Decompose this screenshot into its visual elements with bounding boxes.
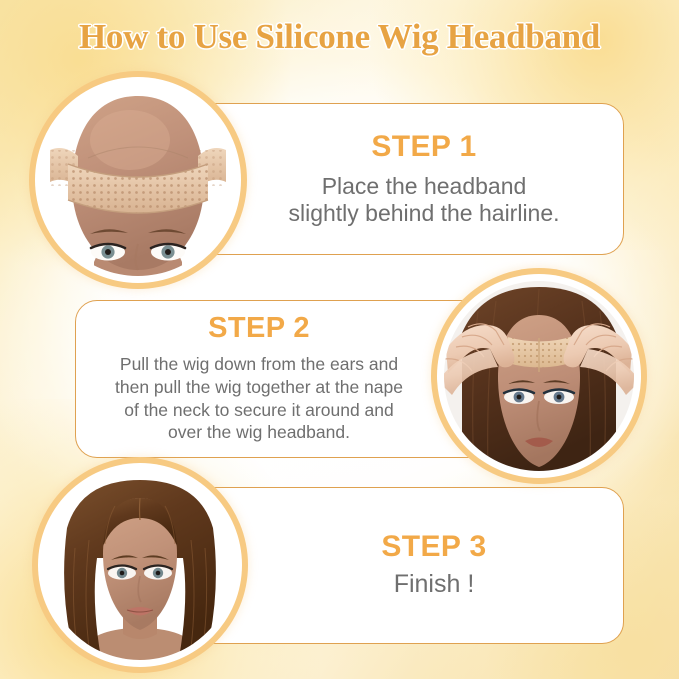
- hands-pulling-wig-illustration: [444, 281, 634, 471]
- step-card-2: STEP 2 Pull the wig down from the ears a…: [75, 300, 491, 458]
- step-card-3: STEP 3 Finish !: [180, 487, 624, 644]
- step-2-body-line: of the neck to secure it around and: [115, 399, 403, 422]
- step-2-body-line: then pull the wig together at the nape: [115, 376, 403, 399]
- step-1-body-line: slightly behind the hairline.: [288, 200, 559, 227]
- step-3-body-line: Finish !: [394, 570, 475, 599]
- step-3-label: STEP 3: [381, 532, 486, 562]
- step-2-photo-clip: [444, 281, 634, 471]
- step-1-photo-clip: [42, 84, 234, 276]
- step-1-photo: [42, 84, 234, 276]
- step-2-body: Pull the wig down from the ears and then…: [115, 353, 403, 444]
- finished-wig-mannequin-illustration: [45, 470, 235, 660]
- step-3-body: Finish !: [394, 570, 475, 599]
- step-2-photo: [444, 281, 634, 471]
- step-2-body-line: Pull the wig down from the ears and: [115, 353, 403, 376]
- step-2-label: STEP 2: [208, 314, 310, 343]
- step-3-photo-clip: [45, 470, 235, 660]
- step-1-body: Place the headband slightly behind the h…: [288, 173, 559, 227]
- page-title: How to Use Silicone Wig Headband: [0, 17, 679, 57]
- step-3-photo: [45, 470, 235, 660]
- step-2-body-line: over the wig headband.: [115, 421, 403, 444]
- step-1-body-line: Place the headband: [288, 173, 559, 200]
- step-1-label: STEP 1: [371, 132, 476, 162]
- infographic-canvas: How to Use Silicone Wig Headband STEP 1 …: [0, 0, 679, 679]
- mannequin-head-headband-illustration: [42, 84, 234, 276]
